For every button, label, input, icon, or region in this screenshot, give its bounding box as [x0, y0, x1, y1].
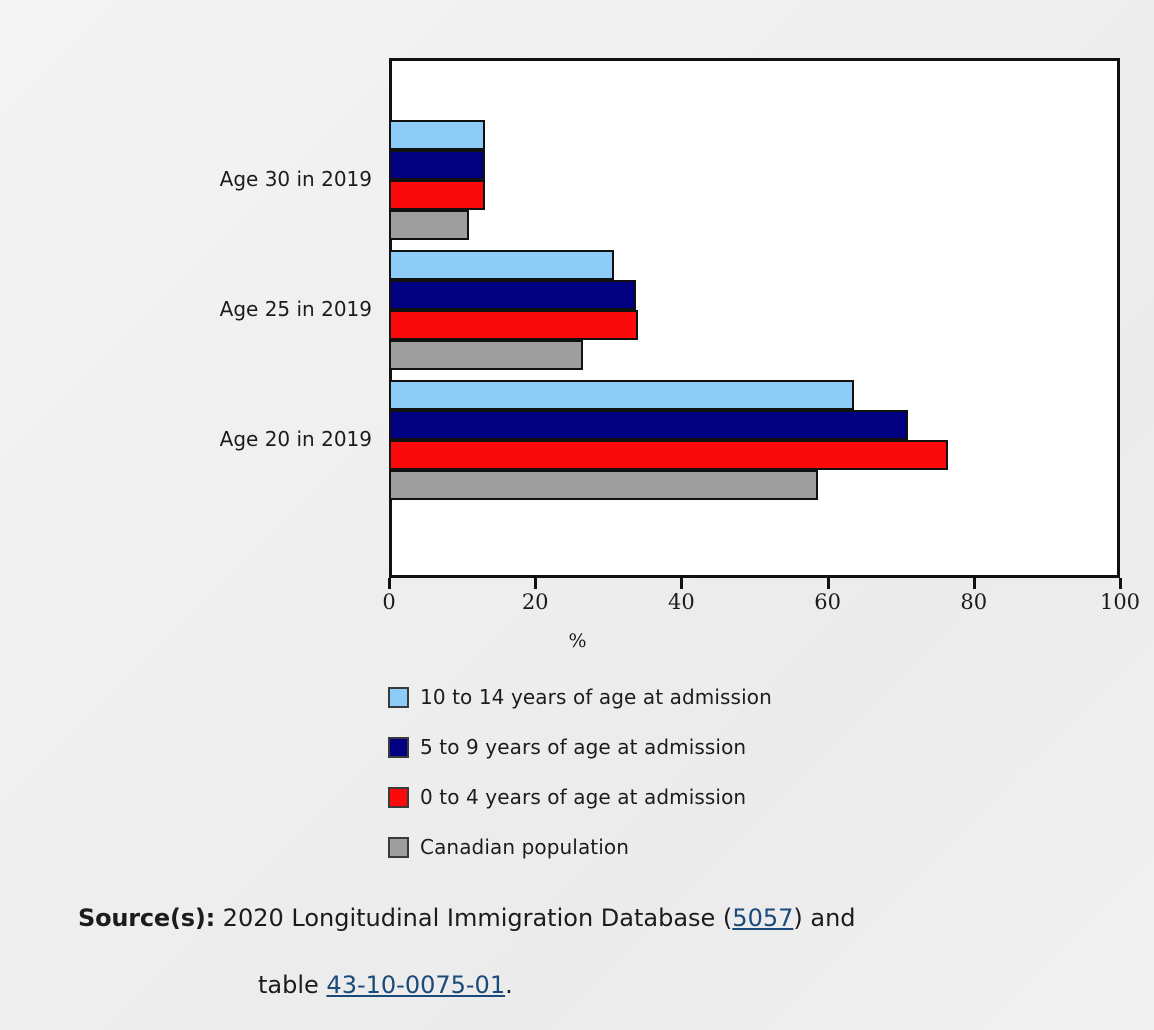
category-label-age-25: Age 25 in 2019: [150, 297, 372, 321]
legend-label-0: 10 to 14 years of age at admission: [420, 685, 772, 709]
source-line2: table 43-10-0075-01.: [258, 952, 1078, 1019]
source-line1-post: ) and: [793, 904, 855, 932]
legend-swatch-icon-0: [388, 687, 409, 708]
legend-item-3[interactable]: Canadian population: [388, 822, 988, 872]
x-tick-mark-80: [973, 578, 976, 589]
bar-age-25-in-2019-series-0: [389, 250, 614, 280]
legend-swatch-icon-3: [388, 837, 409, 858]
bar-age-30-in-2019-series-0: [389, 120, 485, 150]
x-tick-mark-20: [534, 578, 537, 589]
bar-age-25-in-2019-series-1: [389, 280, 636, 310]
bar-age-20-in-2019-series-0: [389, 380, 854, 410]
bar-age-25-in-2019-series-2: [389, 310, 638, 340]
x-axis-title-text: %: [568, 630, 586, 652]
x-tick-label-20: 20: [522, 590, 549, 614]
bar-age-20-in-2019-series-3: [389, 470, 818, 500]
x-tick-mark-60: [827, 578, 830, 589]
source-link-5057[interactable]: 5057: [732, 904, 793, 932]
source-link-table[interactable]: 43-10-0075-01: [326, 971, 505, 999]
x-tick-label-60: 60: [814, 590, 841, 614]
source-note: Source(s): 2020 Longitudinal Immigration…: [78, 885, 1078, 1019]
legend-item-0[interactable]: 10 to 14 years of age at admission: [388, 672, 988, 722]
bar-age-30-in-2019-series-3: [389, 210, 469, 240]
x-tick-mark-100: [1119, 578, 1122, 589]
source-text: 2020 Longitudinal Immigration Database (…: [78, 904, 1078, 1019]
legend-swatch-icon-2: [388, 787, 409, 808]
x-tick-label-40: 40: [668, 590, 695, 614]
x-tick-label-100: 100: [1100, 590, 1140, 614]
x-tick-label-0: 0: [382, 590, 395, 614]
source-label: Source(s):: [78, 904, 215, 932]
bar-age-20-in-2019-series-1: [389, 410, 908, 440]
category-label-age-30: Age 30 in 2019: [150, 167, 372, 191]
source-line2-pre: table: [258, 971, 326, 999]
x-tick-mark-0: [388, 578, 391, 589]
chart-legend: 10 to 14 years of age at admission5 to 9…: [388, 672, 988, 872]
bar-age-25-in-2019-series-3: [389, 340, 583, 370]
chart-figure: Age 30 in 2019 Age 25 in 2019 Age 20 in …: [0, 0, 1154, 1030]
legend-swatch-icon-1: [388, 737, 409, 758]
x-tick-label-80: 80: [960, 590, 987, 614]
bar-age-30-in-2019-series-1: [389, 150, 485, 180]
legend-label-2: 0 to 4 years of age at admission: [420, 785, 746, 809]
x-tick-mark-40: [680, 578, 683, 589]
bar-age-30-in-2019-series-2: [389, 180, 485, 210]
bars-layer: [389, 58, 1120, 578]
legend-label-3: Canadian population: [420, 835, 629, 859]
legend-label-1: 5 to 9 years of age at admission: [420, 735, 746, 759]
x-axis-title: %: [0, 630, 1154, 652]
bar-age-20-in-2019-series-2: [389, 440, 948, 470]
category-label-age-20: Age 20 in 2019: [150, 427, 372, 451]
source-line1-pre: 2020 Longitudinal Immigration Database (: [223, 904, 733, 932]
source-line2-post: .: [505, 971, 513, 999]
legend-item-1[interactable]: 5 to 9 years of age at admission: [388, 722, 988, 772]
legend-item-2[interactable]: 0 to 4 years of age at admission: [388, 772, 988, 822]
